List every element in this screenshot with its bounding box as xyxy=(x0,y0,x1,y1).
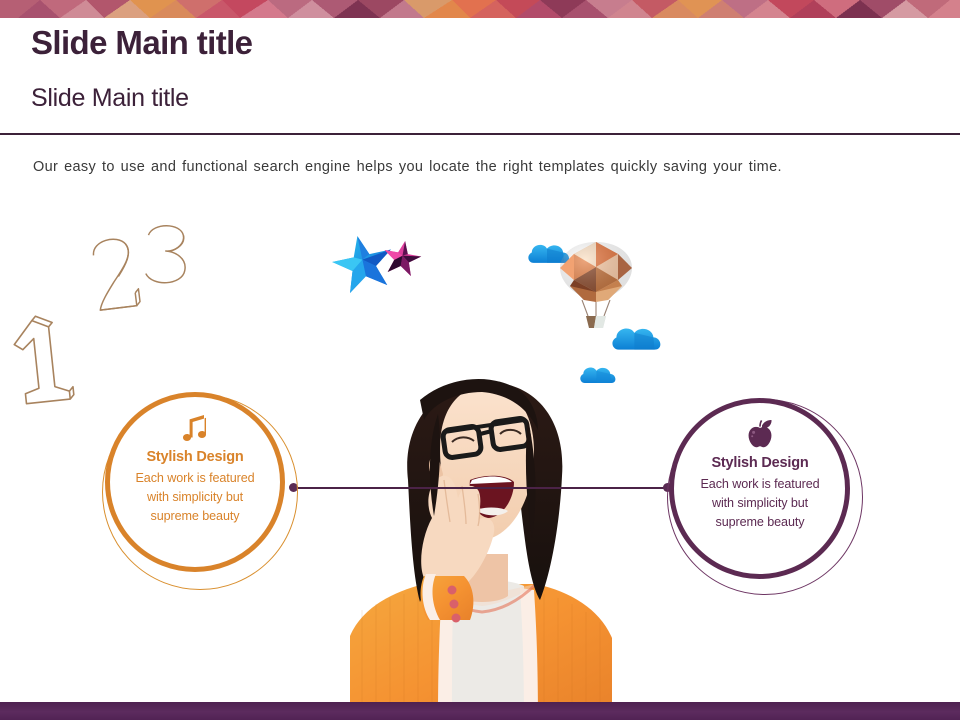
page-subtitle: Slide Main title xyxy=(31,86,189,111)
feature-desc-line: supreme beauty xyxy=(685,513,835,532)
slide-canvas: Slide Main title Slide Main title Our ea… xyxy=(0,0,960,720)
girl-photo xyxy=(350,379,612,720)
star-blue-icon xyxy=(328,230,398,295)
feature-title-right: Stylish Design xyxy=(711,455,808,471)
star-magenta-icon xyxy=(381,238,423,277)
hot-air-balloon-icon xyxy=(560,242,632,328)
outline-number-2-icon xyxy=(92,237,141,310)
outline-number-1-icon xyxy=(12,315,74,405)
feature-desc-line: with simplicity but xyxy=(120,488,270,507)
feature-desc-line: Each work is featured xyxy=(685,475,835,494)
circle-connector-line xyxy=(292,487,668,489)
feature-circle-right[interactable]: Stylish Design Each work is featured wit… xyxy=(662,396,858,592)
apple-icon xyxy=(746,415,774,453)
feature-desc-line: Each work is featured xyxy=(120,469,270,488)
music-note-icon xyxy=(182,409,208,447)
feature-desc-line: supreme beauty xyxy=(120,507,270,526)
outline-number-3-icon xyxy=(145,224,188,284)
header-mosaic-band xyxy=(0,0,960,18)
feature-desc-right: Each work is featured with simplicity bu… xyxy=(685,475,835,532)
header-divider xyxy=(0,133,960,135)
cloud-blue-right-icon xyxy=(612,328,660,349)
page-title: Slide Main title xyxy=(31,26,252,59)
feature-desc-line: with simplicity but xyxy=(685,494,835,513)
feature-title-left: Stylish Design xyxy=(146,449,243,465)
feature-desc-left: Each work is featured with simplicity bu… xyxy=(120,469,270,526)
footer-band xyxy=(0,702,960,720)
cloud-blue-small-icon xyxy=(580,368,615,384)
feature-circle-left[interactable]: Stylish Design Each work is featured wit… xyxy=(97,390,293,586)
lead-paragraph: Our easy to use and functional search en… xyxy=(33,158,913,177)
